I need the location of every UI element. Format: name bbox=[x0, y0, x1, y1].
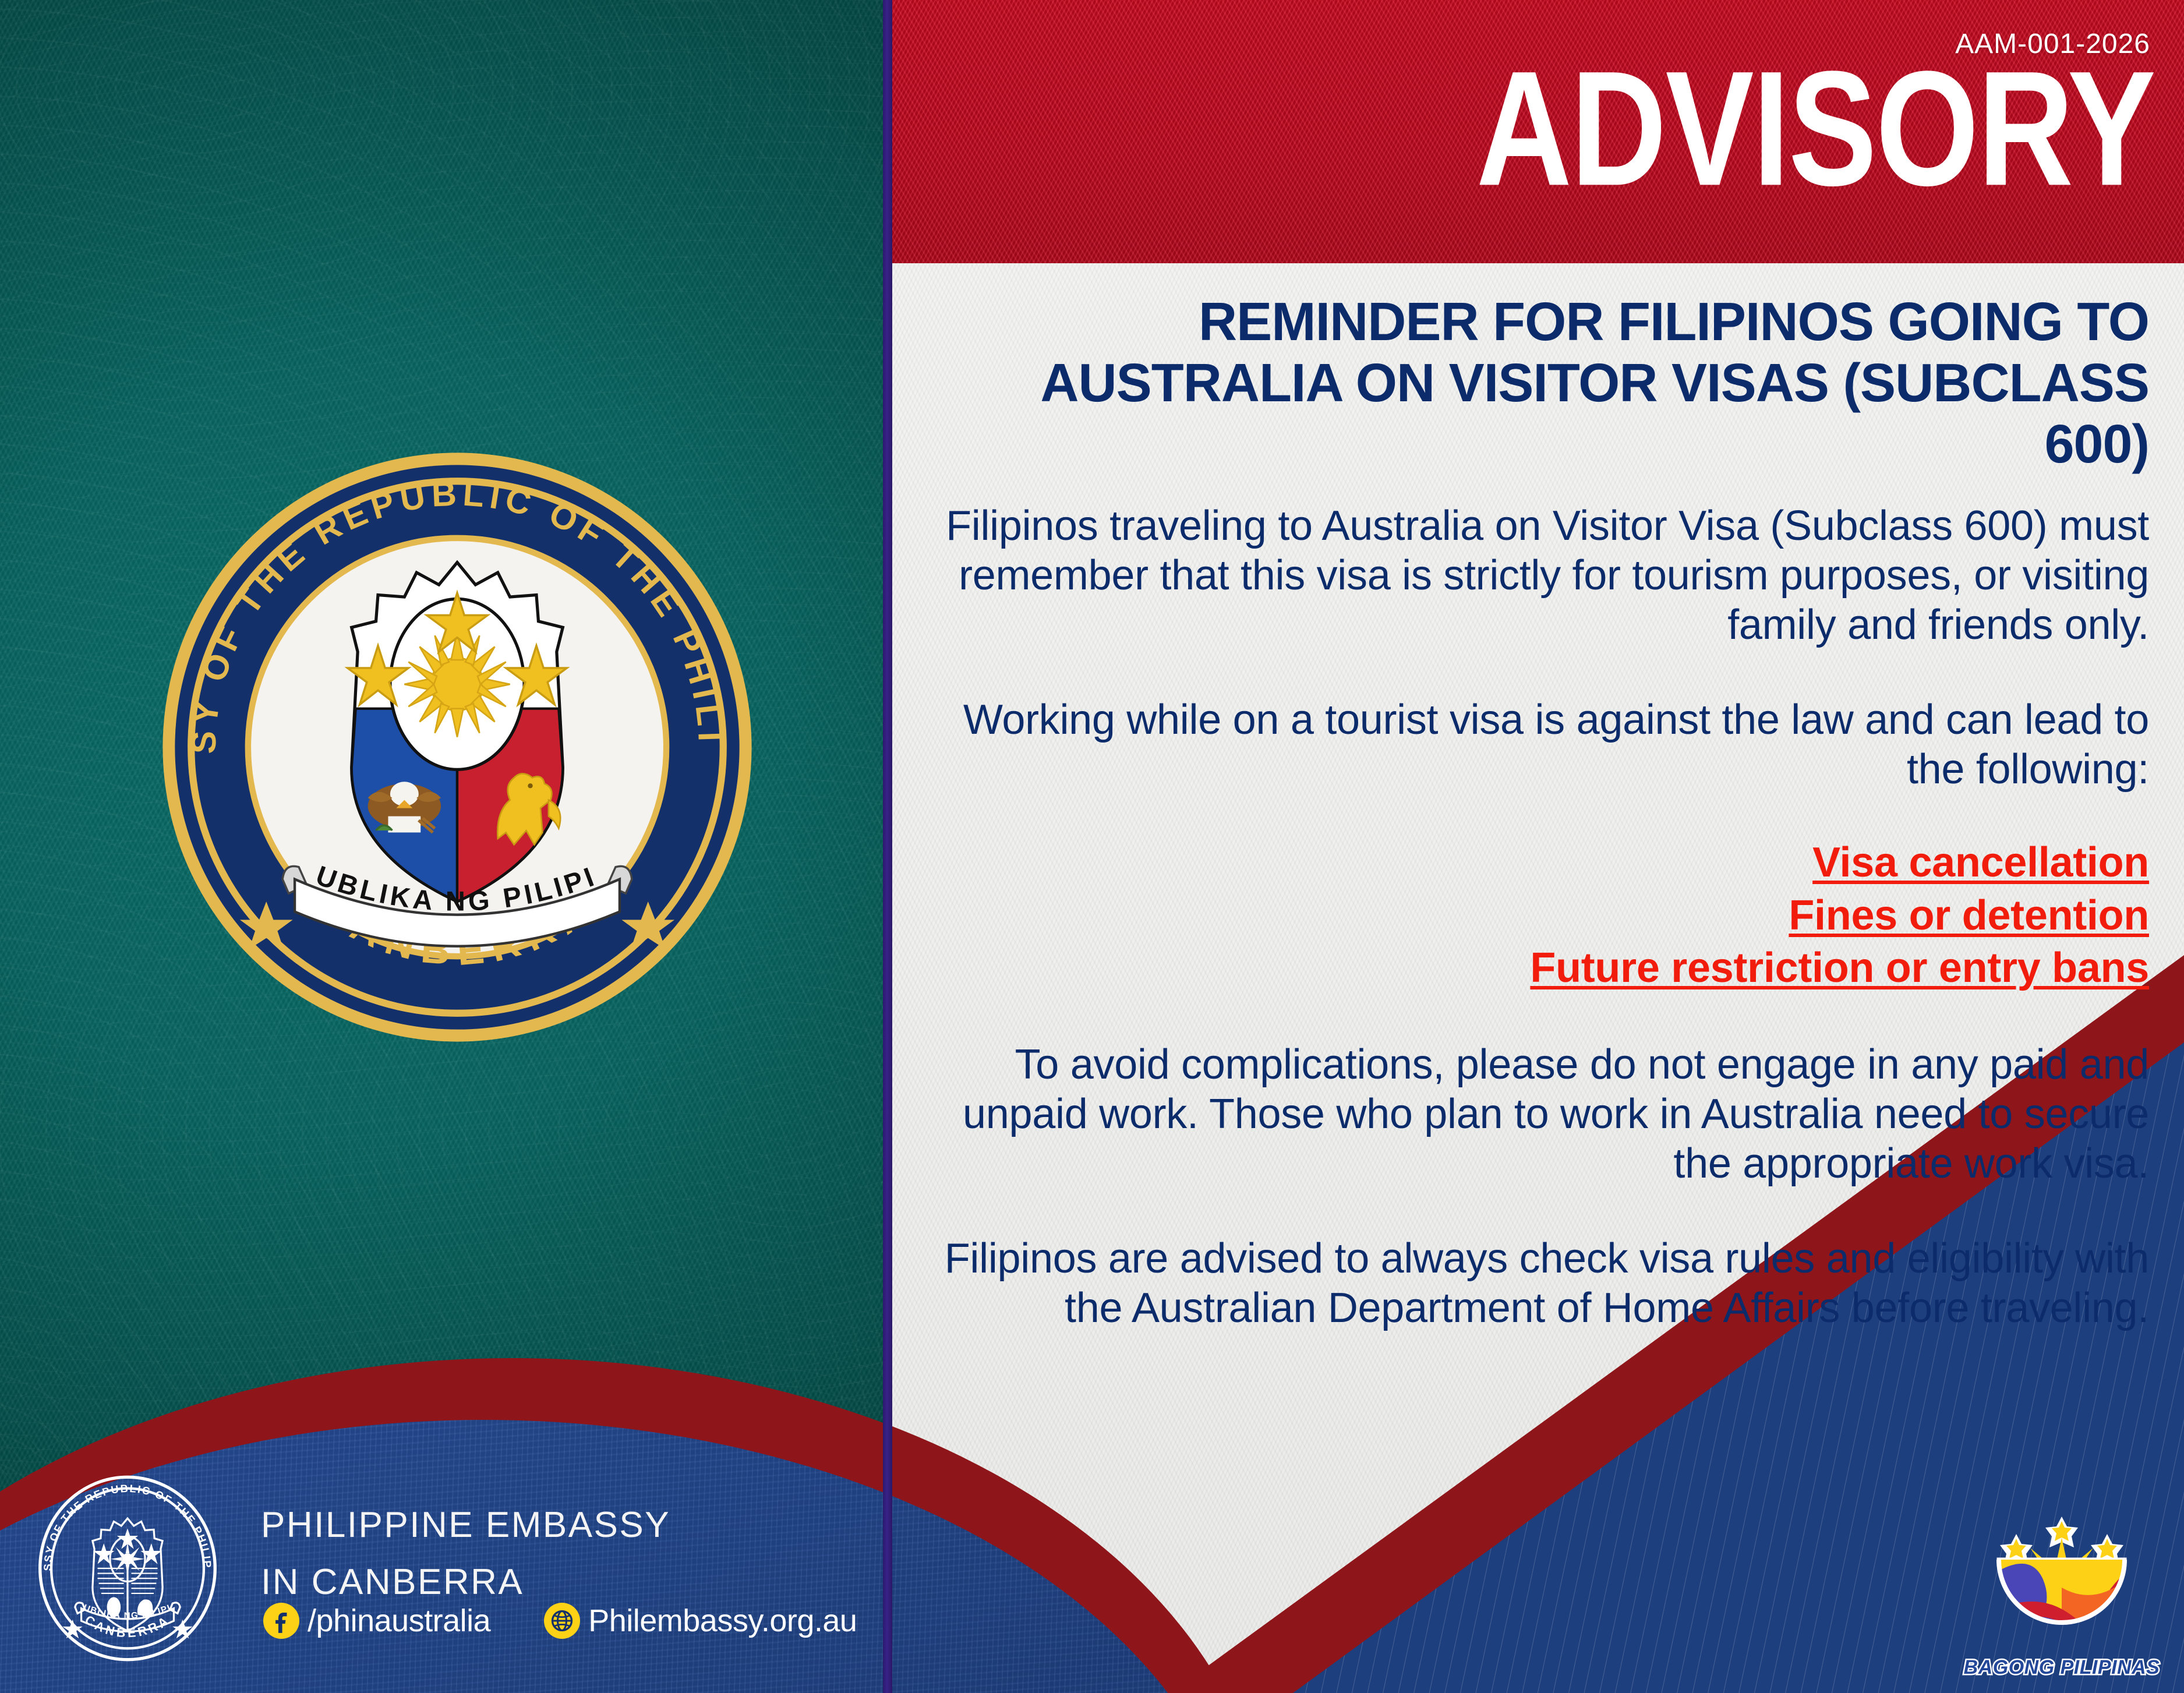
website-handle-label: Philembassy.org.au bbox=[588, 1603, 857, 1639]
social-handles: /phinaustralia Philembassy.org.au bbox=[263, 1603, 857, 1639]
advisory-content: REMINDER FOR FILIPINOS GOING TO AUSTRALI… bbox=[926, 291, 2149, 1333]
advisory-paragraph-4: Filipinos are advised to always check vi… bbox=[926, 1234, 2149, 1333]
panel-divider bbox=[883, 0, 892, 1693]
bagong-pilipinas-logo: BAGONG PILIPINAS bbox=[1963, 1514, 2161, 1679]
facebook-handle-label: /phinaustralia bbox=[308, 1603, 490, 1639]
bagong-pilipinas-label: BAGONG PILIPINAS bbox=[1964, 1656, 2160, 1679]
facebook-icon bbox=[263, 1603, 299, 1639]
embassy-seal: EMBASSY OF THE REPUBLIC OF THE PHILIPPIN… bbox=[153, 443, 762, 1052]
footer-org-block: PHILIPPINE EMBASSY IN CANBERRA bbox=[261, 1497, 670, 1611]
facebook-handle[interactable]: /phinaustralia bbox=[263, 1603, 490, 1639]
website-handle[interactable]: Philembassy.org.au bbox=[544, 1603, 857, 1639]
consequence-item: Fines or detention bbox=[926, 889, 2149, 942]
advisory-headline: REMINDER FOR FILIPINOS GOING TO AUSTRALI… bbox=[945, 291, 2150, 475]
advisory-title: ADVISORY bbox=[1476, 51, 2155, 207]
advisory-paragraph-3: To avoid complications, please do not en… bbox=[926, 1040, 2149, 1189]
advisory-paragraph-1: Filipinos traveling to Australia on Visi… bbox=[926, 501, 2149, 650]
consequence-item: Future restriction or entry bans bbox=[926, 942, 2149, 995]
footer-org-line-1: PHILIPPINE EMBASSY bbox=[261, 1497, 670, 1554]
advisory-paragraph-2: Working while on a tourist visa is again… bbox=[926, 695, 2149, 794]
consequence-item: Visa cancellation bbox=[926, 836, 2149, 889]
bagong-pilipinas-mark bbox=[1974, 1514, 2149, 1660]
globe-icon bbox=[544, 1603, 580, 1639]
advisory-poster: EMBASSY OF THE REPUBLIC OF THE PHILIPPIN… bbox=[0, 0, 2184, 1693]
footer-embassy-seal: EMBASSY OF THE REPUBLIC OF THE PHILIPPIN… bbox=[34, 1475, 221, 1662]
consequences-list: Visa cancellation Fines or detention Fut… bbox=[926, 836, 2149, 995]
right-content-panel: AAM-001-2026 ADVISORY REMINDER FOR FILIP… bbox=[891, 0, 2184, 1693]
